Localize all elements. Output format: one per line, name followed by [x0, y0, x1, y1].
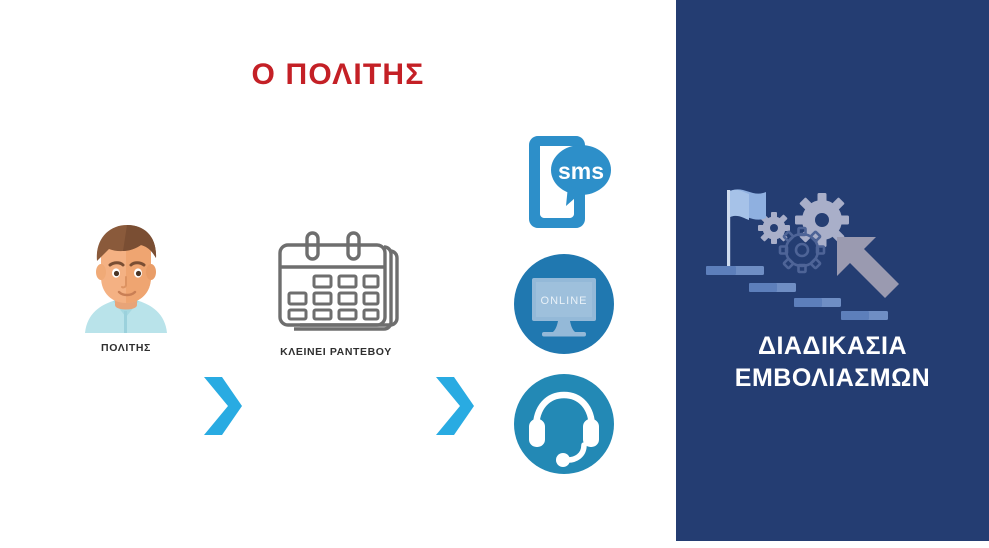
flow-step-citizen: ΠΟΛΙΤΗΣ [70, 225, 182, 354]
sms-bubble-label: sms [558, 158, 604, 184]
page-title: Ο ΠΟΛΙΤΗΣ [0, 58, 676, 92]
process-illustration [686, 180, 981, 315]
arrow-up-left-icon [837, 237, 899, 298]
right-panel: ΔΙΑΔΙΚΑΣΙΑ ΕΜΒΟΛΙΑΣΜΩΝ [676, 0, 989, 541]
online-screen-label: ONLINE [541, 295, 588, 307]
citizen-avatar-icon [79, 225, 173, 333]
chevron-right-icon [432, 375, 478, 437]
right-panel-title-line2: ΕΜΒΟΛΙΑΣΜΩΝ [684, 362, 981, 394]
flow-step-label-citizen: ΠΟΛΙΤΗΣ [70, 342, 182, 354]
channel-list: sms ONLINE [500, 120, 630, 480]
gear-icon [758, 193, 849, 272]
slide-root: Ο ΠΟΛΙΤΗΣ [0, 0, 989, 548]
step-bar-icon [706, 266, 888, 320]
channel-sms[interactable]: sms [512, 130, 616, 234]
chevron-right-icon [200, 375, 246, 437]
flow-step-calendar: ΚΛΕΙΝΕΙ ΡΑΝΤΕΒΟΥ [258, 225, 414, 358]
right-panel-title: ΔΙΑΔΙΚΑΣΙΑ ΕΜΒΟΛΙΑΣΜΩΝ [676, 330, 989, 394]
channel-phone-support[interactable] [512, 372, 616, 476]
flow-step-label-calendar: ΚΛΕΙΝΕΙ ΡΑΝΤΕΒΟΥ [258, 346, 414, 358]
right-panel-title-line1: ΔΙΑΔΙΚΑΣΙΑ [758, 332, 907, 360]
calendar-icon [270, 225, 402, 337]
process-flow: ΠΟΛΙΤΗΣ [0, 120, 676, 480]
channel-online[interactable]: ONLINE [512, 252, 616, 356]
